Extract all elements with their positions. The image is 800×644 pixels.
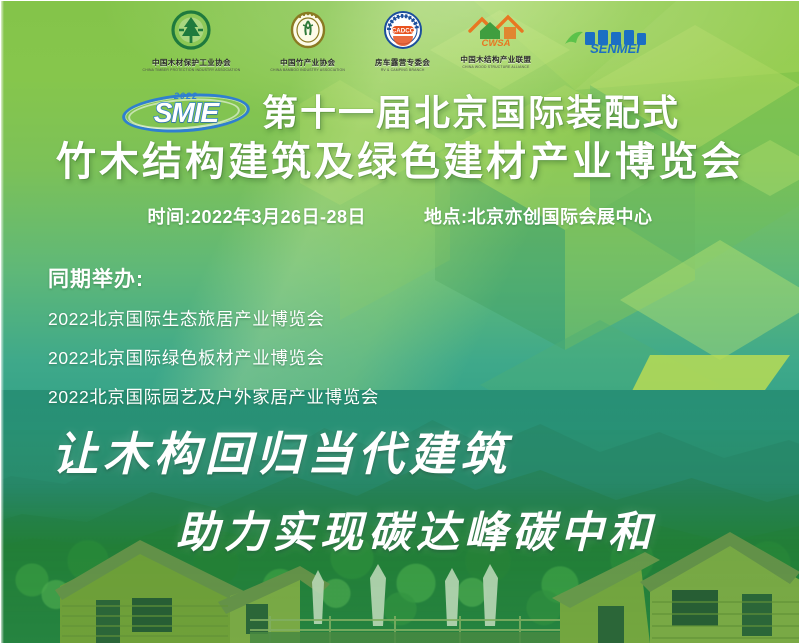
sponsor-name-en: CHINA TIMBER PROTECTION INDUSTRY ASSOCIA… xyxy=(143,68,241,72)
cadcc-badge-icon: CADCC xyxy=(383,10,423,55)
slogan-line-2: 助力实现碳达峰碳中和 xyxy=(176,498,800,560)
sponsor-name-en: CHINA BAMBOO INDUSTRY ASSOCIATION xyxy=(270,68,345,72)
sponsor-name-en: RV & CAMPING BRANCH xyxy=(381,68,425,72)
svg-text:CWSA: CWSA xyxy=(481,38,510,47)
title-block: 2022 SMIE 第十一届北京国际装配式 竹木结构建筑及绿色建材产业博览会 xyxy=(0,88,800,184)
concurrent-events: 同期举办: 2022北京国际生态旅居产业博览会 2022北京国际绿色板材产业博览… xyxy=(48,263,379,423)
sponsor-logo-bamboo-industry: 中国竹产业协会 CHINA BAMBOO INDUSTRY ASSOCIATIO… xyxy=(270,12,345,70)
concurrent-heading: 同期举办: xyxy=(48,263,379,293)
sponsor-logo-cadcc: CADCC 房车露营专委会 RV & CAMPING BRANCH xyxy=(375,12,430,70)
sponsor-name-cn: 房车露营专委会 xyxy=(375,57,430,68)
title-line-2: 竹木结构建筑及绿色建材产业博览会 xyxy=(0,140,800,184)
sponsor-name-en: CHINA WOOD STRUCTURE ALLIANCE xyxy=(462,65,529,69)
event-meta: 时间:2022年3月26日-28日 地点:北京亦创国际会展中心 xyxy=(0,203,800,229)
sponsor-name-cn: 中国竹产业协会 xyxy=(280,57,335,68)
title-line-1-row: 2022 SMIE 第十一届北京国际装配式 xyxy=(0,88,800,138)
poster-content: 中国木材保护工业协会 CHINA TIMBER PROTECTION INDUS… xyxy=(0,0,800,644)
sponsor-logo-china-timber-protection: 中国木材保护工业协会 CHINA TIMBER PROTECTION INDUS… xyxy=(143,12,241,70)
concurrent-item: 2022北京国际园艺及户外家居产业博览会 xyxy=(48,384,379,409)
sponsor-name-cn: 中国木结构产业联盟 xyxy=(460,54,531,65)
event-venue: 地点:北京亦创国际会展中心 xyxy=(424,203,653,229)
title-line-1: 第十一届北京国际装配式 xyxy=(262,91,680,135)
slogan-line-1: 让木构回归当代建筑 xyxy=(52,418,800,484)
concurrent-item: 2022北京国际绿色板材产业博览会 xyxy=(48,345,379,370)
sponsor-logo-cwsa: CWSA 中国木结构产业联盟 CHINA WOOD STRUCTURE ALLI… xyxy=(460,12,531,70)
cwsa-house-icon: CWSA xyxy=(464,13,528,52)
pine-tree-shield-icon xyxy=(171,10,211,55)
svg-text:CADCC: CADCC xyxy=(392,27,415,34)
smie-logo: 2022 SMIE xyxy=(120,90,252,136)
smie-wordmark: SMIE xyxy=(134,99,238,127)
slogan-block: 让木构回归当代建筑 助力实现碳达峰碳中和 xyxy=(0,418,800,560)
event-date: 时间:2022年3月26日-28日 xyxy=(147,203,366,229)
sponsor-name-cn: 中国木材保护工业协会 xyxy=(152,57,231,68)
sponsor-logo-strip: 中国木材保护工业协会 CHINA TIMBER PROTECTION INDUS… xyxy=(0,10,800,72)
bamboo-seal-icon xyxy=(288,10,328,55)
senmei-leaf-icon: SENMEI xyxy=(561,22,657,61)
concurrent-item: 2022北京国际生态旅居产业博览会 xyxy=(48,306,379,331)
senmei-wordmark: SENMEI xyxy=(591,41,641,56)
exhibition-poster: 中国木材保护工业协会 CHINA TIMBER PROTECTION INDUS… xyxy=(0,0,800,644)
sponsor-logo-senmei: SENMEI xyxy=(561,12,657,70)
